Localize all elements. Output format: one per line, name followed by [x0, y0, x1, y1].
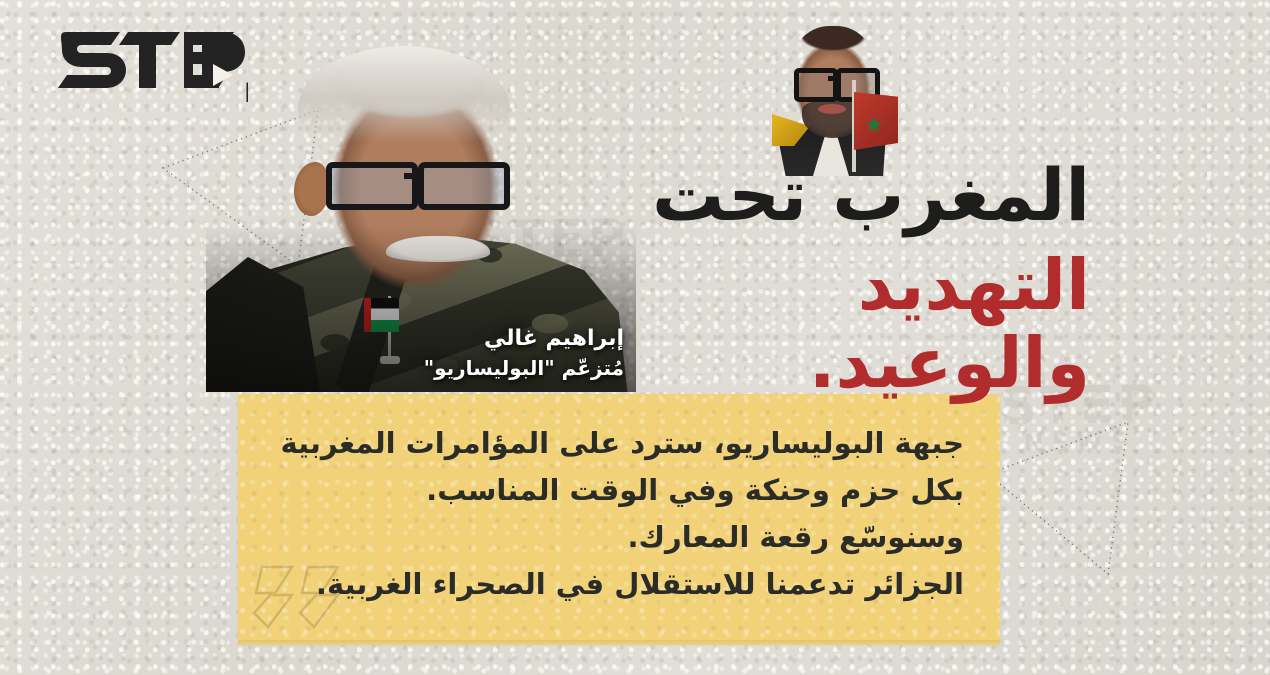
- poster-canvas: STEP NEWS STEP NEWS NEWS: [0, 0, 1270, 675]
- watermark-news-text: NEWS: [1000, 430, 1159, 456]
- dotted-triangle-right: [980, 382, 1240, 622]
- quote-panel: جبهة البوليساريو، سترد على المؤامرات الم…: [238, 394, 1000, 645]
- quote-line: الجزائر تدعمنا للاستقلال في الصحراء الغر…: [268, 561, 964, 608]
- eyeglasses: [326, 160, 516, 202]
- headline: المغرب تحت التهديد والوعيد.: [630, 158, 1090, 402]
- headline-line-1: المغرب تحت: [630, 158, 1090, 234]
- quote-line: بكل حزم وحنكة وفي الوقت المناسب.: [268, 467, 964, 514]
- caption-name: إبراهيم غالي: [232, 324, 624, 354]
- headline-line-2: التهديد والوعيد.: [630, 246, 1090, 403]
- quote-line: وسنوسّع رقعة المعارك.: [268, 514, 964, 561]
- quote-line: جبهة البوليساريو، سترد على المؤامرات الم…: [268, 420, 964, 467]
- portrait-caption: إبراهيم غالي مُتزعّم "البوليساريو": [232, 324, 640, 383]
- caption-role: مُتزعّم "البوليساريو": [232, 354, 624, 383]
- grey-hair: [298, 46, 510, 142]
- lens-left: [326, 162, 418, 210]
- flag-pentagram-icon: ★: [864, 116, 884, 136]
- lens-right: [418, 162, 510, 210]
- glasses-bridge: [404, 173, 424, 179]
- quote-text: جبهة البوليساريو، سترد على المؤامرات الم…: [238, 394, 1000, 608]
- moustache: [386, 236, 490, 262]
